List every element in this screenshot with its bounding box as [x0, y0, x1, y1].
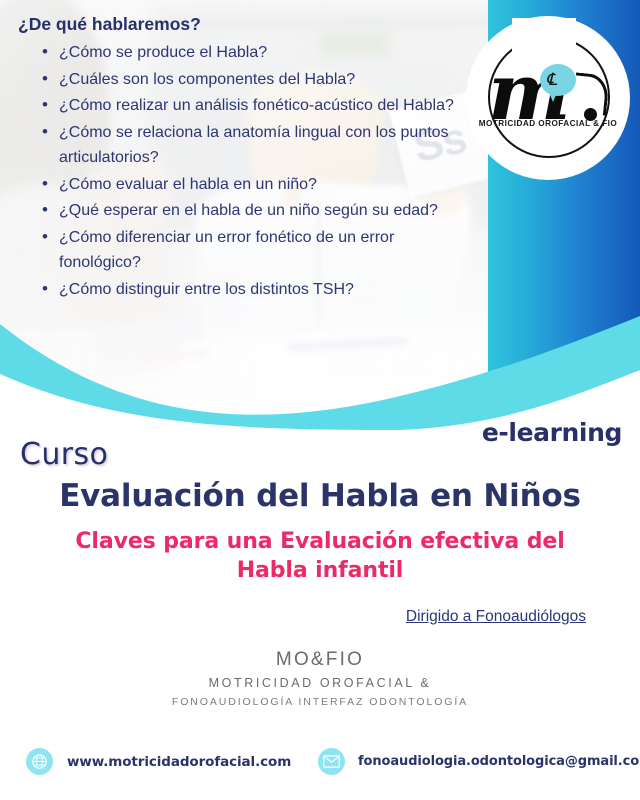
brand-line-1: MOTRICIDAD OROFACIAL & [0, 676, 640, 690]
list-item: ¿Cómo se relaciona la anatomía lingual c… [42, 120, 470, 171]
kicker-label: Curso [20, 437, 108, 472]
list-item: ¿Cómo realizar un análisis fonético-acús… [42, 93, 470, 119]
email-address: fonoaudiologia.odontologica@gmail.com [358, 754, 640, 769]
globe-icon [26, 748, 53, 775]
website-url: www.motricidadorofacial.com [67, 754, 291, 770]
envelope-icon [318, 748, 345, 775]
modality-label: e-learning [482, 418, 622, 447]
list-item: ¿Cómo distinguir entre los distintos TSH… [42, 277, 470, 303]
logo-tongue-glyph-icon: ℄ [546, 70, 570, 90]
topics-panel: ¿De qué hablaremos? ¿Cómo se produce el … [0, 14, 470, 303]
brand-line-2: FONOAUDIOLOGÍA INTERFAZ ODONTOLOGÍA [0, 696, 640, 708]
topics-heading: ¿De qué hablaremos? [18, 14, 470, 35]
contact-email[interactable]: fonoaudiologia.odontologica@gmail.com [318, 748, 640, 775]
list-item: ¿Cómo evaluar el habla en un niño? [42, 172, 470, 198]
logo-speech-bubble-tail-icon [548, 90, 558, 102]
contact-website[interactable]: www.motricidadorofacial.com [26, 748, 291, 775]
page-subtitle: Claves para una Evaluación efectiva del … [45, 527, 595, 585]
list-item: ¿Cómo se produce el Habla? [42, 40, 470, 66]
brand-logo-badge: m ℄ MOTRICIDAD OROFACIAL & FIO [466, 16, 630, 180]
cyan-wave-divider [0, 300, 640, 430]
topics-list: ¿Cómo se produce el Habla? ¿Cuáles son l… [42, 40, 470, 302]
page-title: Evaluación del Habla en Niños [0, 478, 640, 514]
logo-caption: MOTRICIDAD OROFACIAL & FIO [466, 119, 630, 128]
audience-note[interactable]: Dirigido a Fonoaudiólogos [406, 608, 586, 626]
list-item: ¿Cuáles son los componentes del Habla? [42, 67, 470, 93]
list-item: ¿Cómo diferenciar un error fonético de u… [42, 225, 470, 276]
contact-bar: www.motricidadorofacial.com fonoaudiolog… [0, 748, 640, 794]
list-item: ¿Qué esperar en el habla de un niño segú… [42, 198, 470, 224]
brand-short-name: MO&FIO [0, 649, 640, 671]
